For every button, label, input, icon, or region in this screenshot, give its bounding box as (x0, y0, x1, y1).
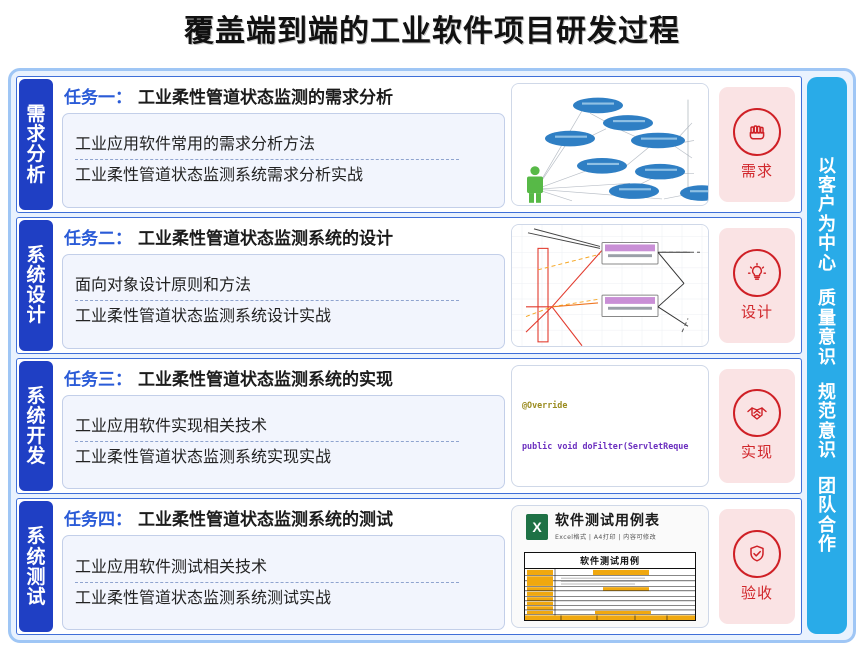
sidebar-item-development[interactable]: 系 统 开 发 (19, 361, 53, 492)
stage-char: 试 (26, 587, 45, 607)
doc-title: 软件测试用例表 (555, 514, 660, 529)
thumbnail-usecase-diagram[interactable] (511, 83, 709, 206)
stage-char: 测 (26, 567, 45, 587)
rail-char: 识 (818, 348, 836, 367)
poster-root: 覆盖端到端的工业软件项目研发过程 需 求 分 析 任务一：工业柔性管道状态监测的… (0, 0, 864, 651)
rail-char: 合 (818, 516, 836, 535)
thumbnail-excel-testcase[interactable]: X 软件测试用例表 Excel格式 | A4打印 | 内容可修改 软件测试用例 (511, 505, 709, 628)
list-item[interactable]: 工业柔性管道状态监测系统设计实战 (75, 303, 492, 330)
fist-icon-graphic (745, 120, 769, 144)
handshake-icon (733, 389, 781, 437)
badge-label: 设计 (741, 301, 773, 322)
code-line: public void doFilter(ServletReque (522, 440, 708, 454)
excel-icon: X (526, 514, 548, 540)
code-line: @Override (522, 399, 708, 413)
task-title: 工业柔性管道状态监测系统的实现 (138, 370, 393, 390)
status-badge: 验收 (719, 509, 795, 624)
divider (75, 159, 459, 160)
row-text-column: 任务一：工业柔性管道状态监测的需求分析 工业应用软件常用的需求分析方法 工业柔性… (62, 81, 505, 208)
badge-label: 需求 (741, 160, 773, 181)
stage-char: 计 (26, 305, 45, 325)
sidebar-item-testing[interactable]: 系 统 测 试 (19, 501, 53, 632)
task-number: 任务二： (64, 229, 132, 249)
testcase-table-graphic (525, 569, 695, 621)
rail-char: 作 (818, 535, 836, 554)
rail-item-teamwork: 团 队 合 作 (818, 477, 836, 555)
divider (75, 300, 459, 301)
stage-char: 系 (26, 386, 45, 406)
status-badge: 实现 (719, 369, 795, 484)
task-heading: 任务一：工业柔性管道状态监测的需求分析 (64, 83, 505, 108)
stage-char: 析 (26, 165, 45, 185)
rail-char: 范 (818, 402, 836, 421)
usecase-diagram-graphic (512, 84, 708, 205)
stage-char: 统 (26, 265, 45, 285)
row-body: 任务二：工业柔性管道状态监测系统的设计 面向对象设计原则和方法 工业柔性管道状态… (56, 218, 801, 353)
stage-char: 开 (26, 426, 45, 446)
list-item[interactable]: 工业应用软件测试相关技术 (75, 554, 492, 581)
rail-char: 意 (818, 328, 836, 347)
badge-label: 验收 (741, 582, 773, 603)
task-title: 工业柔性管道状态监测系统的设计 (138, 229, 393, 249)
list-item[interactable]: 面向对象设计原则和方法 (75, 272, 492, 299)
task-title: 工业柔性管道状态监测系统的测试 (138, 510, 393, 530)
rail-item-quality-awareness: 质 量 意 识 (818, 289, 836, 367)
values-rail[interactable]: 以 客 户 为 中 心 质 量 意 识 规 范 意 识 团 队 (807, 77, 847, 634)
fist-icon (733, 108, 781, 156)
row-body: 任务三：工业柔性管道状态监测系统的实现 工业应用软件实现相关技术 工业柔性管道状… (56, 359, 801, 494)
table-row[interactable]: 系 统 开 发 任务三：工业柔性管道状态监测系统的实现 工业应用软件实现相关技术… (16, 358, 802, 495)
table-row[interactable]: 需 求 分 析 任务一：工业柔性管道状态监测的需求分析 工业应用软件常用的需求分… (16, 76, 802, 213)
table-title: 软件测试用例 (525, 553, 695, 569)
row-text-column: 任务三：工业柔性管道状态监测系统的实现 工业应用软件实现相关技术 工业柔性管道状… (62, 363, 505, 490)
list-item[interactable]: 工业柔性管道状态监测系统需求分析实战 (75, 162, 492, 189)
stage-char: 统 (26, 406, 45, 426)
task-number: 任务一： (64, 88, 132, 108)
architecture-diagram-graphic (512, 225, 708, 346)
stage-char: 发 (26, 446, 45, 466)
task-heading: 任务三：工业柔性管道状态监测系统的实现 (64, 365, 505, 390)
rail-char: 队 (818, 496, 836, 515)
sub-item-box: 工业应用软件测试相关技术 工业柔性管道状态监测系统测试实战 (62, 535, 505, 630)
task-number: 任务四： (64, 510, 132, 530)
stage-char: 需 (26, 104, 45, 124)
table-row[interactable]: 系 统 设 计 任务二：工业柔性管道状态监测系统的设计 面向对象设计原则和方法 … (16, 217, 802, 354)
handshake-icon-graphic (745, 401, 769, 425)
row-body: 任务四：工业柔性管道状态监测系统的测试 工业应用软件测试相关技术 工业柔性管道状… (56, 499, 801, 634)
process-frame: 需 求 分 析 任务一：工业柔性管道状态监测的需求分析 工业应用软件常用的需求分… (8, 68, 856, 643)
task-heading: 任务四：工业柔性管道状态监测系统的测试 (64, 505, 505, 530)
task-heading: 任务二：工业柔性管道状态监测系统的设计 (64, 224, 505, 249)
sidebar-item-design[interactable]: 系 统 设 计 (19, 220, 53, 351)
rail-char: 质 (818, 289, 836, 308)
page-title: 覆盖端到端的工业软件项目研发过程 (0, 6, 864, 50)
badge-label: 实现 (741, 441, 773, 462)
lightbulb-icon-graphic (745, 261, 769, 285)
rail-char: 量 (818, 309, 836, 328)
rail-char: 团 (818, 477, 836, 496)
stage-char: 系 (26, 526, 45, 546)
sub-item-box: 面向对象设计原则和方法 工业柔性管道状态监测系统设计实战 (62, 254, 505, 349)
stage-char: 系 (26, 245, 45, 265)
sub-item-box: 工业应用软件实现相关技术 工业柔性管道状态监测系统实现实战 (62, 395, 505, 490)
rail-char: 识 (818, 441, 836, 460)
status-badge: 需求 (719, 87, 795, 202)
stage-char: 分 (26, 144, 45, 164)
rail-char: 规 (818, 383, 836, 402)
list-item[interactable]: 工业柔性管道状态监测系统测试实战 (75, 585, 492, 612)
status-badge: 设计 (719, 228, 795, 343)
rail-char: 以 (818, 157, 836, 176)
rail-char: 客 (818, 176, 836, 195)
row-body: 任务一：工业柔性管道状态监测的需求分析 工业应用软件常用的需求分析方法 工业柔性… (56, 77, 801, 212)
divider (75, 582, 459, 583)
sidebar-item-requirement[interactable]: 需 求 分 析 (19, 79, 53, 210)
sub-item-box: 工业应用软件常用的需求分析方法 工业柔性管道状态监测系统需求分析实战 (62, 113, 505, 208)
rail-char: 心 (818, 254, 836, 273)
shield-check-icon (733, 530, 781, 578)
rail-char: 中 (818, 234, 836, 253)
rail-item-customer-centric: 以 客 户 为 中 心 (818, 157, 836, 274)
rail-item-standards-awareness: 规 范 意 识 (818, 383, 836, 461)
stage-rows: 需 求 分 析 任务一：工业柔性管道状态监测的需求分析 工业应用软件常用的需求分… (16, 76, 802, 635)
rail-char: 户 (818, 195, 836, 214)
table-row[interactable]: 系 统 测 试 任务四：工业柔性管道状态监测系统的测试 工业应用软件测试相关技术… (16, 498, 802, 635)
divider (75, 441, 459, 442)
row-text-column: 任务四：工业柔性管道状态监测系统的测试 工业应用软件测试相关技术 工业柔性管道状… (62, 503, 505, 630)
thumbnail-code-snippet[interactable]: @Override public void doFilter(ServletRe… (511, 365, 709, 488)
excel-letter: X (532, 519, 541, 535)
thumbnail-architecture-diagram[interactable] (511, 224, 709, 347)
list-item[interactable]: 工业应用软件常用的需求分析方法 (75, 131, 492, 158)
list-item[interactable]: 工业应用软件实现相关技术 (75, 413, 492, 440)
task-title: 工业柔性管道状态监测的需求分析 (138, 88, 393, 108)
doc-subtitle: Excel格式 | A4打印 | 内容可修改 (555, 532, 660, 541)
shield-check-icon-graphic (745, 542, 769, 566)
task-number: 任务三： (64, 370, 132, 390)
row-text-column: 任务二：工业柔性管道状态监测系统的设计 面向对象设计原则和方法 工业柔性管道状态… (62, 222, 505, 349)
stage-char: 求 (26, 124, 45, 144)
rail-char: 为 (818, 215, 836, 234)
list-item[interactable]: 工业柔性管道状态监测系统实现实战 (75, 444, 492, 471)
stage-char: 统 (26, 547, 45, 567)
lightbulb-icon (733, 249, 781, 297)
rail-char: 意 (818, 422, 836, 441)
stage-char: 设 (26, 285, 45, 305)
